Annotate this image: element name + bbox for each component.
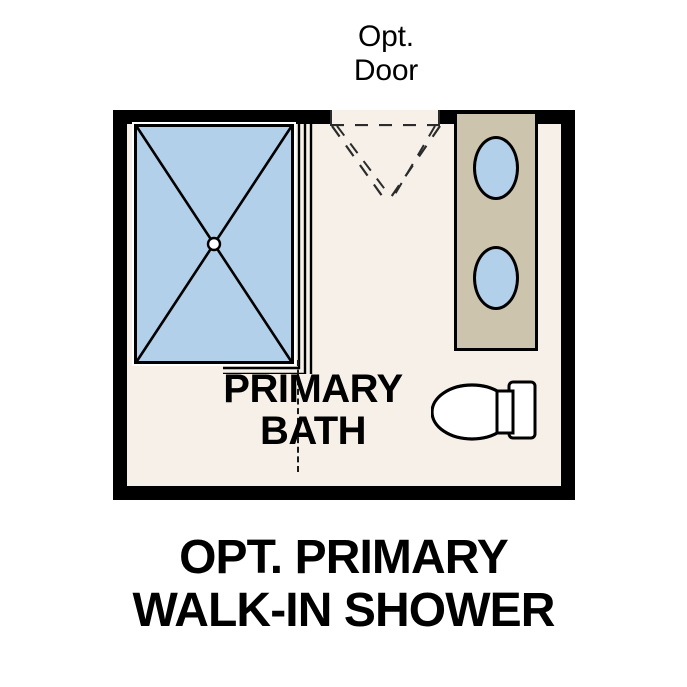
room-label-line2: BATH	[173, 410, 453, 452]
opt-door-annotation-line2: Door	[306, 54, 466, 88]
door-jamb-left	[330, 110, 332, 126]
plan-caption: OPT. PRIMARY WALK-IN SHOWER	[0, 532, 687, 638]
opt-door-opening	[330, 110, 440, 124]
room-label-line1: PRIMARY	[173, 368, 453, 410]
double-vanity	[454, 111, 538, 351]
plan-caption-line1: OPT. PRIMARY	[0, 532, 687, 585]
shower-enclosure-frame	[127, 122, 313, 374]
door-jamb-right	[438, 110, 440, 126]
floor-plan-canvas: Opt. Door	[0, 0, 687, 687]
opt-door-annotation-line1: Opt.	[306, 20, 466, 54]
bathroom-floor-plan: PRIMARY BATH	[113, 110, 575, 500]
room-label: PRIMARY BATH	[173, 368, 453, 453]
plan-caption-line2: WALK-IN SHOWER	[0, 585, 687, 638]
sink-icon-upper	[473, 136, 519, 200]
opt-door-annotation: Opt. Door	[306, 20, 466, 87]
sink-icon-lower	[473, 246, 519, 310]
walk-in-shower	[127, 124, 313, 374]
